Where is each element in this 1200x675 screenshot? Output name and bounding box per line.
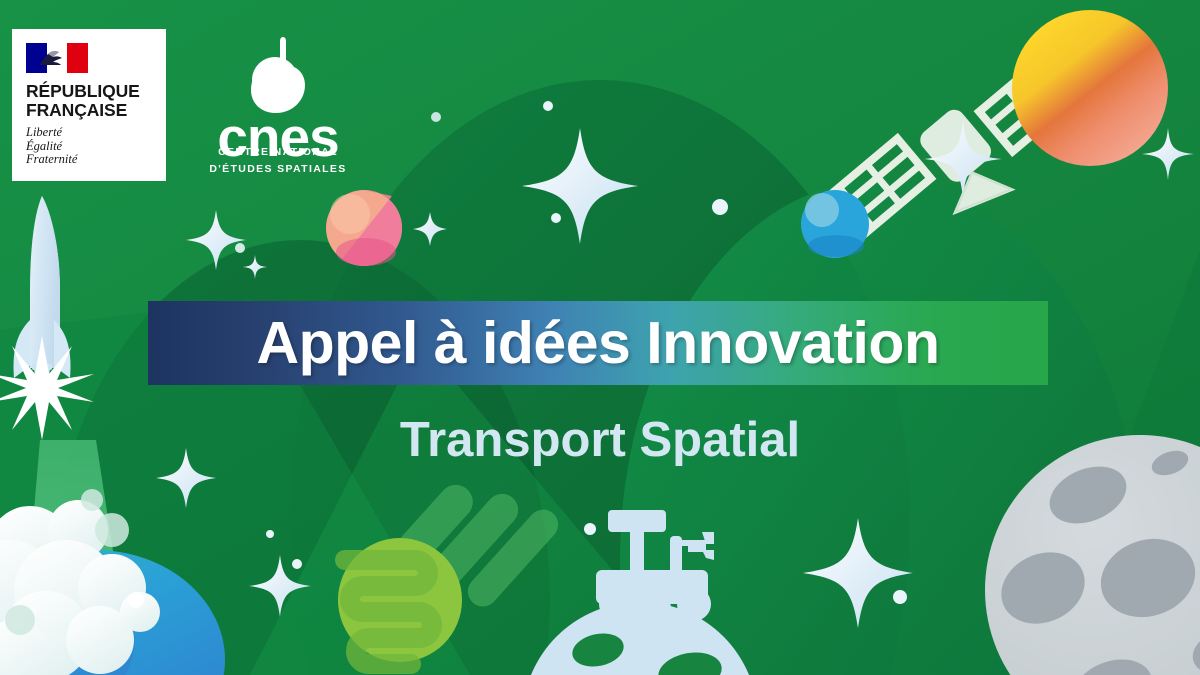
- french-flag-icon: [26, 43, 88, 73]
- cnes-subtitle-line1: CENTRE NATIONAL: [193, 146, 363, 158]
- cnes-logo: cnes CENTRE NATIONAL D'ÉTUDES SPATIALES: [193, 35, 363, 185]
- star-dot-icon: [128, 592, 144, 608]
- blue-planet-icon: [801, 190, 870, 258]
- republique-title: RÉPUBLIQUE FRANÇAISE: [26, 82, 154, 119]
- cnes-subtitle-line2: D'ÉTUDES SPATIALES: [193, 163, 363, 175]
- republique-francaise-logo: RÉPUBLIQUE FRANÇAISE Liberté Égalité Fra…: [12, 29, 166, 181]
- pink-planet-icon: [326, 190, 402, 266]
- republique-motto: Liberté Égalité Fraternité: [26, 126, 154, 167]
- cnes-crescent-antenna-icon: [235, 35, 327, 113]
- banner-title: Appel à idées Innovation: [256, 313, 939, 373]
- title-banner: Appel à idées Innovation: [148, 301, 1048, 385]
- subtitle: Transport Spatial: [0, 410, 1200, 470]
- poster-canvas: RÉPUBLIQUE FRANÇAISE Liberté Égalité Fra…: [0, 0, 1200, 675]
- sun-planet-icon: [1012, 10, 1168, 166]
- marianne-icon: [36, 46, 70, 71]
